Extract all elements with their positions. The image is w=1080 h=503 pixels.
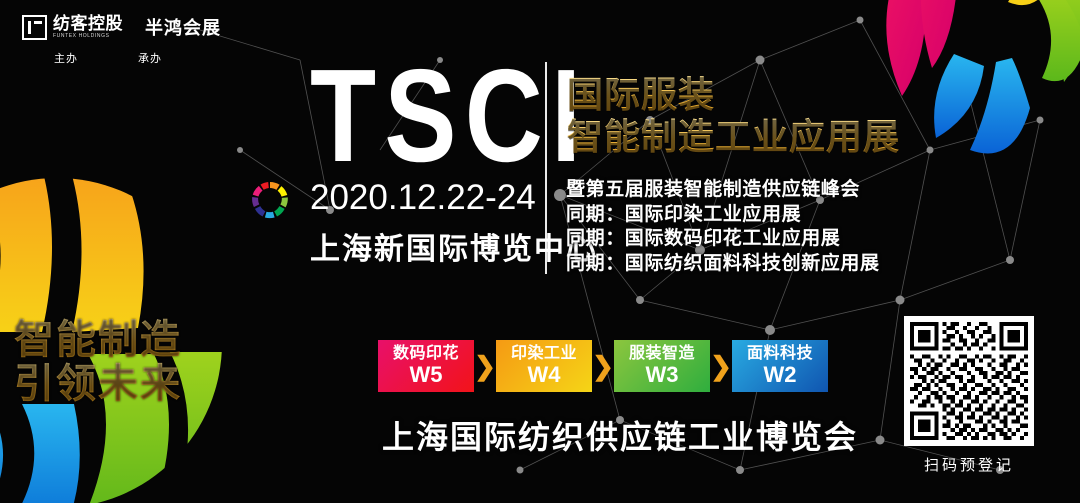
qr-registration-block[interactable]: 扫码预登记	[904, 316, 1034, 475]
hall-tag-w2-label: 面料科技	[747, 345, 813, 363]
hall-tag-list: 数码印花 W5 ❯ 印染工业 W4 ❯ 服装智造 W3 ❯ 面料科技 W2	[378, 340, 828, 392]
expo-name: 上海国际纺织供应链工业博览会	[382, 412, 858, 458]
organizer-logo-en: FUNTEX HOLDINGS	[53, 34, 123, 39]
sub-event-3: 同期：国际纺织面料科技创新应用展	[566, 252, 880, 277]
poster-canvas: 纺客控股 FUNTEX HOLDINGS 半鸿会展 主办 承办	[0, 0, 1080, 503]
slogan: 智能制造 引领未来	[14, 318, 182, 406]
hall-tag-w3-code: W3	[646, 363, 679, 387]
title-line-1: 国际服装	[567, 74, 900, 116]
event-title: 国际服装 智能制造工业应用展	[567, 74, 900, 159]
hall-tag-w5[interactable]: 数码印花 W5	[378, 340, 474, 392]
funtex-logo-icon	[22, 15, 47, 40]
chevron-right-icon-3: ❯	[710, 353, 732, 379]
hall-tag-w3-label: 服装智造	[629, 345, 695, 363]
slogan-line-2: 引领未来	[14, 362, 182, 406]
event-venue: 上海新国际博览中心	[310, 224, 598, 268]
hall-tag-w4-label: 印染工业	[511, 345, 577, 363]
role-organizer-label: 主办	[54, 50, 78, 66]
organizer-logo: 纺客控股 FUNTEX HOLDINGS	[22, 15, 123, 40]
host-logo-zh: 半鸿会展	[145, 14, 221, 40]
organizer-logo-zh: 纺客控股	[53, 15, 123, 32]
title-line-2: 智能制造工业应用展	[567, 116, 900, 158]
hall-tag-w4-code: W4	[528, 363, 561, 387]
sub-event-2: 同期：国际数码印花工业应用展	[566, 227, 880, 252]
sponsor-logos: 纺客控股 FUNTEX HOLDINGS 半鸿会展 主办 承办	[22, 14, 221, 66]
colorful-circle-logo-icon	[248, 178, 292, 222]
qr-code-icon[interactable]	[904, 316, 1034, 446]
event-acronym: TSCI	[310, 62, 589, 170]
role-host-label: 承办	[138, 50, 162, 66]
hall-tag-w2[interactable]: 面料科技 W2	[732, 340, 828, 392]
chevron-right-icon-2: ❯	[592, 353, 614, 379]
sub-event-1: 同期：国际印染工业应用展	[566, 203, 880, 228]
chevron-right-icon-1: ❯	[474, 353, 496, 379]
sub-event-0: 暨第五届服装智能制造供应链峰会	[566, 178, 880, 203]
hall-tag-w4[interactable]: 印染工业 W4	[496, 340, 592, 392]
slogan-line-1: 智能制造	[14, 318, 182, 362]
hall-tag-w5-label: 数码印花	[393, 345, 459, 363]
qr-caption: 扫码预登记	[904, 454, 1034, 475]
hall-tag-w3[interactable]: 服装智造 W3	[614, 340, 710, 392]
hall-tag-w5-code: W5	[410, 363, 443, 387]
hall-tag-w2-code: W2	[764, 363, 797, 387]
sub-events-list: 暨第五届服装智能制造供应链峰会 同期：国际印染工业应用展 同期：国际数码印花工业…	[566, 178, 880, 277]
